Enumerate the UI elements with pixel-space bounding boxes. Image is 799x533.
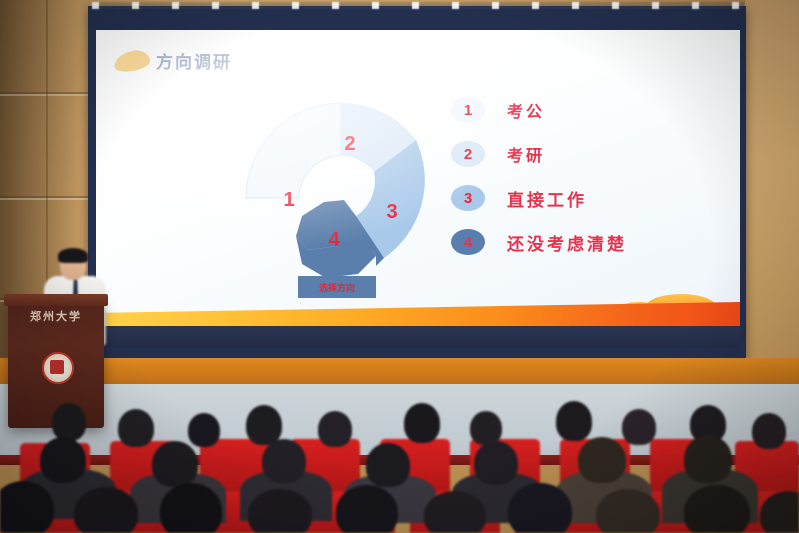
audience-head xyxy=(424,491,486,533)
audience-head xyxy=(404,403,440,443)
slide-gradient-band xyxy=(96,302,740,328)
university-seal-icon xyxy=(42,352,74,384)
audience-head xyxy=(118,409,154,447)
audience-head xyxy=(470,411,502,445)
legend-badge-2: 2 xyxy=(451,141,485,167)
legend-badge-3: 3 xyxy=(451,185,485,211)
audience-head xyxy=(160,483,222,533)
legend-label-1: 考公 xyxy=(507,98,545,122)
audience-head xyxy=(52,403,86,441)
slide-title-group: 方向调研 xyxy=(114,48,232,73)
audience-head xyxy=(752,413,786,449)
legend-label-2: 考研 xyxy=(507,142,545,166)
audience-head xyxy=(596,489,660,533)
stage-wood-rail xyxy=(0,358,799,384)
legend-label-3: 直接工作 xyxy=(507,186,587,211)
legend-item-4: 4 还没考虑清楚 xyxy=(451,220,701,264)
audience-head xyxy=(366,443,410,487)
ceiling-light-strip xyxy=(92,2,744,9)
chart-label-4: 4 xyxy=(328,229,340,251)
audience-head xyxy=(684,485,750,533)
speaker-hair xyxy=(58,248,88,263)
lecture-hall-photo: 方向调研 选择方向 1 2 3 4 xyxy=(0,0,799,533)
legend-label-4: 还没考虑清楚 xyxy=(507,230,627,255)
orange-blob-icon xyxy=(113,48,151,73)
audience xyxy=(0,395,799,533)
legend-badge-1: 1 xyxy=(451,97,485,123)
chart-label-2: 2 xyxy=(344,133,355,155)
slide-footer-bar xyxy=(96,326,740,348)
legend-badge-4: 4 xyxy=(451,229,485,255)
audience-head xyxy=(622,409,656,445)
chart-label-1: 1 xyxy=(283,189,294,211)
page-title: 方向调研 xyxy=(156,48,232,73)
projected-slide: 方向调研 选择方向 1 2 3 4 xyxy=(96,30,740,348)
audience-head xyxy=(74,487,138,533)
audience-head xyxy=(248,489,312,533)
audience-head xyxy=(318,411,352,447)
question-mark-donut-chart: 选择方向 1 2 3 4 xyxy=(226,78,456,298)
legend-item-2: 2 考研 xyxy=(451,132,701,176)
chart-segment-1 xyxy=(246,103,341,198)
chart-label-3: 3 xyxy=(386,201,397,223)
audience-head xyxy=(508,483,572,533)
audience-head xyxy=(40,437,86,483)
legend-item-3: 3 直接工作 xyxy=(451,176,701,220)
audience-head xyxy=(578,437,626,483)
audience-head xyxy=(152,441,198,487)
audience-head xyxy=(336,485,398,533)
audience-head xyxy=(684,435,732,483)
podium-top xyxy=(4,294,108,306)
wall-panel-right xyxy=(745,0,799,400)
audience-head xyxy=(474,441,518,485)
chart-legend: 1 考公 2 考研 3 直接工作 4 还没考虑清楚 xyxy=(451,88,701,264)
audience-head xyxy=(188,413,220,447)
audience-head xyxy=(262,439,306,483)
chart-center-label-line1: 选择方向 xyxy=(319,282,355,293)
podium-university-name: 郑州大学 xyxy=(8,308,104,324)
legend-item-1: 1 考公 xyxy=(451,88,701,132)
audience-head xyxy=(556,401,592,441)
